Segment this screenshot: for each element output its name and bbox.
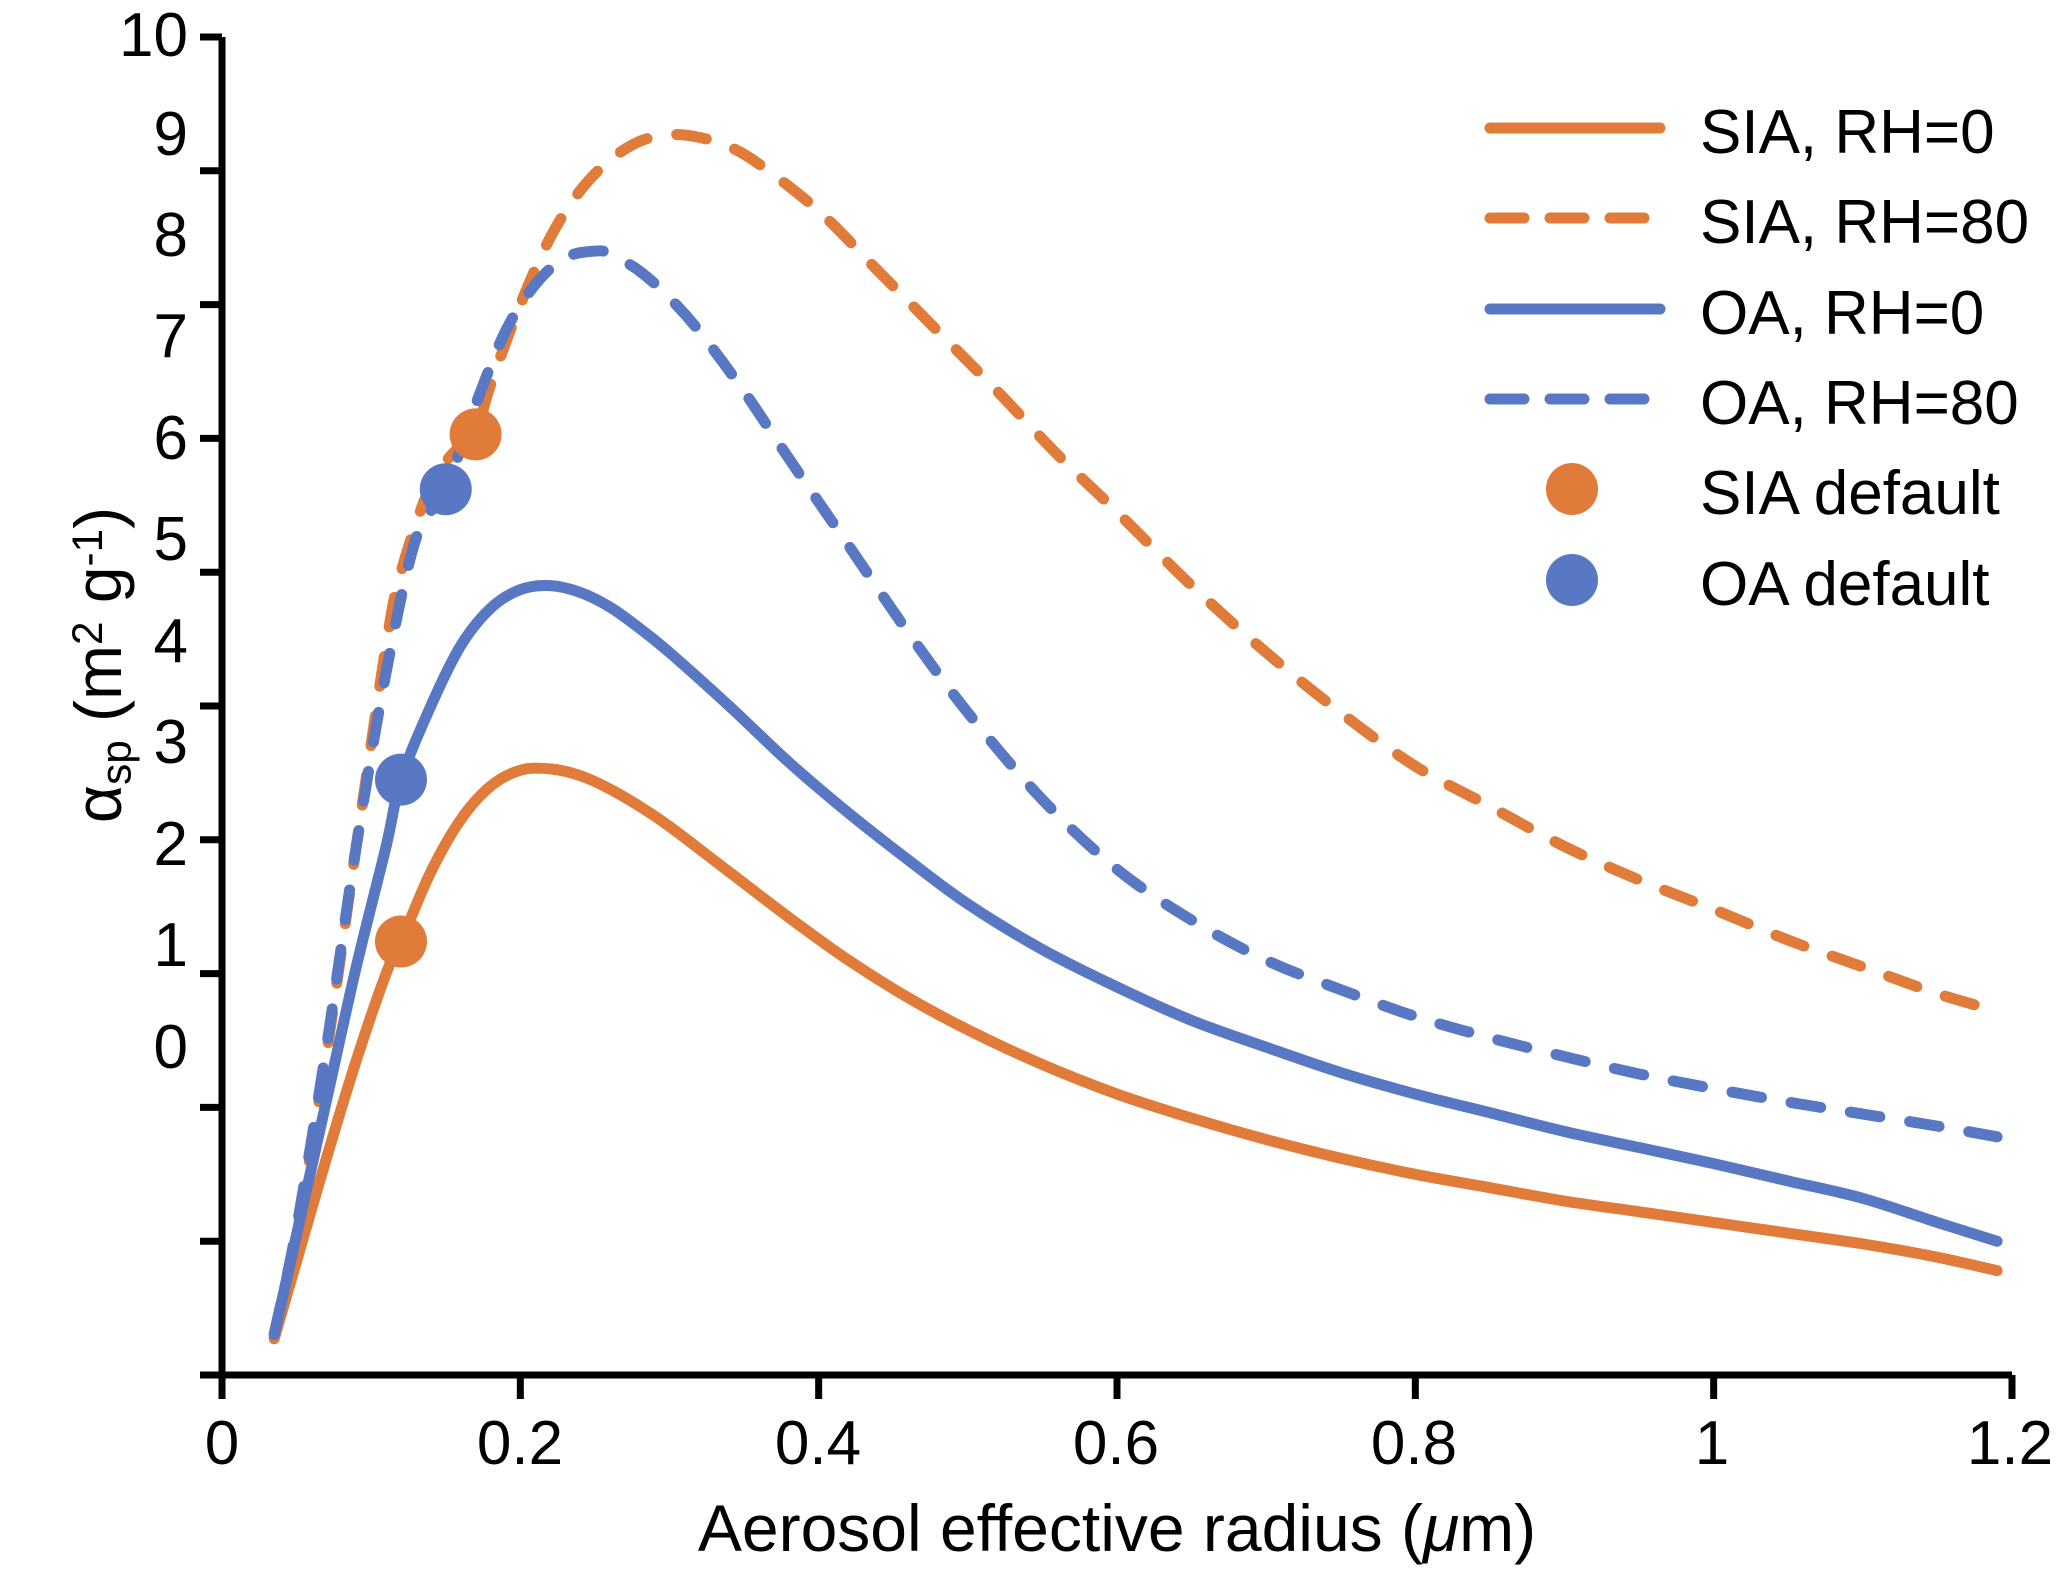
legend-label-oa-rh80: OA, RH=80 (1700, 373, 2019, 435)
x-axis-title: Aerosol effective radius (μm) (222, 1490, 2012, 1566)
x-tick-label: 0.8 (1334, 1413, 1494, 1475)
legend-swatch-4 (1546, 463, 1598, 515)
data-marker-1 (420, 463, 472, 515)
chart-figure: 10 9 8 7 6 5 4 3 2 1 0 0 0.2 0.4 0.6 0.8… (0, 0, 2067, 1595)
x-tick-label: 0.4 (738, 1413, 898, 1475)
series-line-0 (274, 768, 1997, 1339)
x-tick-label: 1.2 (1930, 1413, 2067, 1475)
y-tick-label: 10 (68, 5, 188, 67)
x-tick-label: 0 (142, 1413, 302, 1475)
y-axis-title: αsp (m2 g-1) (55, 265, 145, 1065)
data-marker-0 (450, 408, 502, 460)
data-marker-3 (375, 915, 427, 967)
data-marker-2 (375, 754, 427, 806)
y-tick-label: 9 (68, 104, 188, 166)
legend-label-oa-default: OA default (1700, 554, 1990, 616)
x-tick-label: 0.2 (440, 1413, 600, 1475)
legend-label-sia-default: SIA default (1700, 463, 2000, 525)
x-tick-label: 0.6 (1036, 1413, 1196, 1475)
legend-label-sia-rh80: SIA, RH=80 (1700, 192, 2029, 254)
legend-label-sia-rh0: SIA, RH=0 (1700, 102, 1995, 164)
legend-label-oa-rh0: OA, RH=0 (1700, 283, 1984, 345)
x-tick-label: 1 (1632, 1413, 1792, 1475)
legend-swatch-5 (1546, 554, 1598, 606)
y-tick-label: 8 (68, 205, 188, 267)
y-axis-title-text: αsp (m2 g-1) (60, 507, 140, 823)
